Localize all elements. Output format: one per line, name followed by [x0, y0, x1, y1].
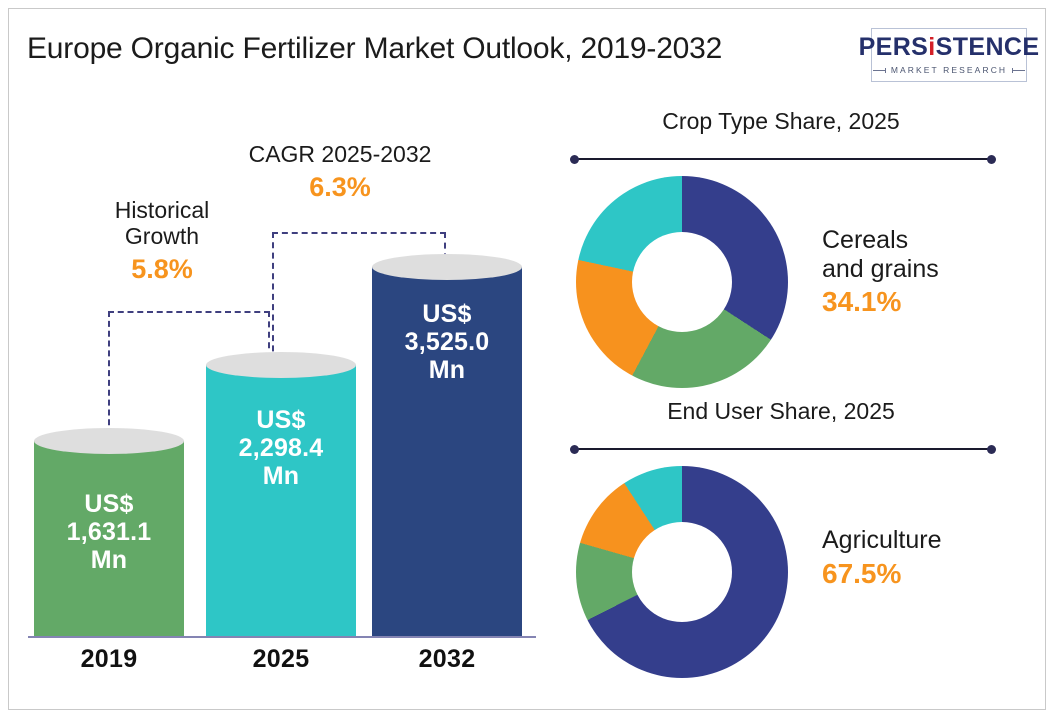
- cagr-connector-horizontal: [272, 232, 446, 234]
- historical-growth-value: 5.8%: [62, 254, 262, 284]
- historical-connector-left-leg: [108, 311, 110, 445]
- bar-2019-value-line3: Mn: [34, 546, 184, 574]
- bar-2019: US$ 1,631.1 Mn: [34, 428, 184, 636]
- bar-chart: Historical Growth 5.8% CAGR 2025-2032 6.…: [20, 100, 540, 690]
- end-user-share-donut: [576, 466, 788, 678]
- end-user-highlight-name-line1: Agriculture: [822, 526, 942, 555]
- end-user-share-panel: End User Share, 2025 Agriculture 67.5%: [556, 398, 1026, 688]
- x-axis-label-2019: 2019: [34, 645, 184, 674]
- x-axis-label-2032: 2032: [372, 645, 522, 674]
- crop-type-highlight-name-line2: and grains: [822, 255, 939, 284]
- chart-baseline: [28, 636, 536, 638]
- crop-type-share-legend: Cereals and grains 34.1%: [822, 226, 939, 318]
- bar-2019-cap: [34, 428, 184, 454]
- historical-growth-annotation: Historical Growth 5.8%: [62, 198, 262, 284]
- x-axis-label-2025: 2025: [206, 645, 356, 674]
- cagr-connector-left-leg: [272, 232, 274, 372]
- logo-word-part2: STENCE: [936, 33, 1040, 61]
- cagr-annotation: CAGR 2025-2032 6.3%: [220, 142, 460, 202]
- crop-type-highlight-name-line1: Cereals: [822, 226, 939, 255]
- logo-word-part1: PERS: [859, 33, 929, 61]
- bar-2019-value-line2: 1,631.1: [34, 518, 184, 546]
- crop-type-share-divider: [574, 158, 992, 160]
- crop-type-share-donut: [576, 176, 788, 388]
- crop-type-share-title: Crop Type Share, 2025: [556, 108, 1006, 135]
- logo-word-letter-i: i: [928, 33, 935, 61]
- divider-right-dot-icon: [987, 155, 996, 164]
- logo-subtitle-row: MARKET RESEARCH: [873, 65, 1025, 75]
- bar-2032-cap: [372, 254, 522, 280]
- end-user-highlight-value: 67.5%: [822, 558, 942, 590]
- bar-2019-value-line1: US$: [34, 490, 184, 518]
- bar-2025-value-line1: US$: [206, 406, 356, 434]
- historical-connector-horizontal: [108, 311, 270, 313]
- logo-wordmark: PERSiSTENCE: [859, 35, 1040, 60]
- bar-2032-value-line3: Mn: [372, 356, 522, 384]
- infographic-page: Europe Organic Fertilizer Market Outlook…: [0, 0, 1056, 720]
- bar-2032-value-line2: 3,525.0: [372, 328, 522, 356]
- end-user-share-title: End User Share, 2025: [556, 398, 1006, 425]
- bar-2032: US$ 3,525.0 Mn: [372, 254, 522, 636]
- divider-right-dot-icon: [987, 445, 996, 454]
- bar-2025-value-label: US$ 2,298.4 Mn: [206, 406, 356, 490]
- logo-left-dash-icon: [873, 70, 886, 71]
- persistence-market-research-logo: PERSiSTENCE MARKET RESEARCH: [871, 28, 1027, 82]
- page-title: Europe Organic Fertilizer Market Outlook…: [27, 32, 722, 66]
- end-user-share-donut-hole: [632, 522, 732, 622]
- end-user-share-divider: [574, 448, 992, 450]
- divider-left-dot-icon: [570, 155, 579, 164]
- cagr-label: CAGR 2025-2032: [220, 142, 460, 168]
- bar-2025-value-line2: 2,298.4: [206, 434, 356, 462]
- end-user-share-legend: Agriculture 67.5%: [822, 526, 942, 589]
- crop-type-share-panel: Crop Type Share, 2025 Cereals and grains…: [556, 108, 1026, 393]
- logo-subtitle: MARKET RESEARCH: [891, 65, 1007, 75]
- bar-2025: US$ 2,298.4 Mn: [206, 352, 356, 636]
- bar-2025-cap: [206, 352, 356, 378]
- historical-growth-label-line2: Growth: [62, 224, 262, 250]
- crop-type-highlight-value: 34.1%: [822, 286, 939, 318]
- crop-type-share-donut-hole: [632, 232, 732, 332]
- cagr-value: 6.3%: [220, 172, 460, 202]
- logo-right-dash-icon: [1012, 70, 1025, 71]
- bar-2032-value-label: US$ 3,525.0 Mn: [372, 300, 522, 384]
- bar-2032-value-line1: US$: [372, 300, 522, 328]
- bar-2025-value-line3: Mn: [206, 462, 356, 490]
- bar-2019-value-label: US$ 1,631.1 Mn: [34, 490, 184, 574]
- divider-left-dot-icon: [570, 445, 579, 454]
